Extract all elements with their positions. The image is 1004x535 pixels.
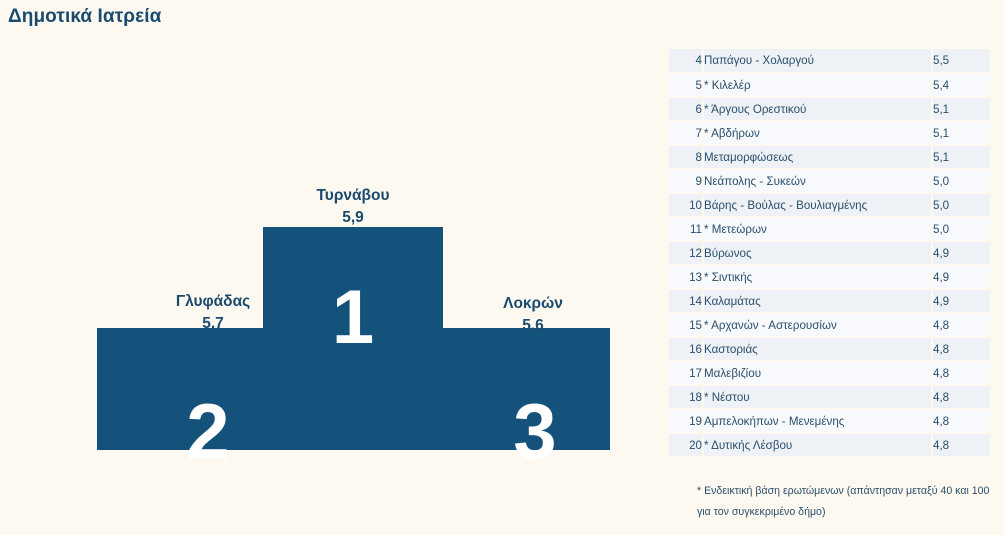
table-cell-score: 5,0 xyxy=(932,193,990,217)
table-cell-rank: 7 xyxy=(669,121,703,145)
table-cell-rank: 6 xyxy=(669,97,703,121)
table-row: 4Παπάγου - Χολαργού5,5 xyxy=(669,49,990,73)
table-cell-score: 5,1 xyxy=(932,121,990,145)
podium-rank-numeral-2: 2 xyxy=(148,392,268,470)
table-cell-score: 5,4 xyxy=(932,73,990,97)
table-cell-score: 4,9 xyxy=(932,241,990,265)
table-cell-score: 4,8 xyxy=(932,409,990,433)
table-cell-rank: 11 xyxy=(669,217,703,241)
table-cell-rank: 20 xyxy=(669,433,703,457)
table-cell-municipality: * Άργους Ορεστικού xyxy=(703,97,932,121)
podium-name-3: Λοκρών xyxy=(438,293,628,315)
table-cell-municipality: Μεταμορφώσεως xyxy=(703,145,932,169)
table-row: 12Βύρωνος4,9 xyxy=(669,241,990,265)
table-cell-score: 4,8 xyxy=(932,313,990,337)
table-row: 8Μεταμορφώσεως5,1 xyxy=(669,145,990,169)
table-cell-municipality: Αμπελοκήπων - Μενεμένης xyxy=(703,409,932,433)
table-cell-rank: 5 xyxy=(669,73,703,97)
table-cell-rank: 16 xyxy=(669,337,703,361)
podium-score-1: 5,9 xyxy=(253,207,453,229)
table-cell-rank: 19 xyxy=(669,409,703,433)
table-cell-municipality: Μαλεβιζίου xyxy=(703,361,932,385)
table-row: 11* Μετεώρων5,0 xyxy=(669,217,990,241)
ranking-table: 4Παπάγου - Χολαργού5,55* Κιλελέρ5,46* Άρ… xyxy=(669,49,990,458)
table-cell-municipality: * Αβδήρων xyxy=(703,121,932,145)
table-cell-rank: 18 xyxy=(669,385,703,409)
podium-rank-numeral-1: 1 xyxy=(293,280,413,356)
table-cell-municipality: Παπάγου - Χολαργού xyxy=(703,49,932,73)
table-cell-score: 5,1 xyxy=(932,97,990,121)
podium-name-1: Τυρνάβου xyxy=(253,185,453,207)
page-title: Δημοτικά Ιατρεία xyxy=(8,6,161,28)
table-cell-municipality: * Μετεώρων xyxy=(703,217,932,241)
table-row: 14Καλαμάτας4,9 xyxy=(669,289,990,313)
table-row: 6* Άργους Ορεστικού5,1 xyxy=(669,97,990,121)
ranking-table-body: 4Παπάγου - Χολαργού5,55* Κιλελέρ5,46* Άρ… xyxy=(669,49,990,457)
table-row: 17Μαλεβιζίου4,8 xyxy=(669,361,990,385)
table-cell-score: 4,8 xyxy=(932,337,990,361)
table-cell-score: 4,9 xyxy=(932,289,990,313)
table-footnote: * Ενδεικτική βάση ερωτώμενων (απάντησαν … xyxy=(697,481,995,522)
table-cell-score: 5,5 xyxy=(932,49,990,73)
table-cell-municipality: Βάρης - Βούλας - Βουλιαγμένης xyxy=(703,193,932,217)
table-cell-municipality: * Αρχανών - Αστερουσίων xyxy=(703,313,932,337)
table-cell-score: 4,8 xyxy=(932,433,990,457)
table-cell-rank: 17 xyxy=(669,361,703,385)
table-row: 13* Σιντικής4,9 xyxy=(669,265,990,289)
table-row: 10Βάρης - Βούλας - Βουλιαγμένης5,0 xyxy=(669,193,990,217)
table-cell-rank: 4 xyxy=(669,49,703,73)
table-row: 7* Αβδήρων5,1 xyxy=(669,121,990,145)
table-cell-rank: 12 xyxy=(669,241,703,265)
table-cell-rank: 10 xyxy=(669,193,703,217)
table-cell-score: 4,8 xyxy=(932,361,990,385)
podium-score-3: 5,6 xyxy=(438,315,628,337)
table-cell-rank: 9 xyxy=(669,169,703,193)
table-row: 19Αμπελοκήπων - Μενεμένης4,8 xyxy=(669,409,990,433)
table-cell-rank: 8 xyxy=(669,145,703,169)
podium-rank-numeral-3: 3 xyxy=(475,392,595,470)
table-cell-municipality: * Κιλελέρ xyxy=(703,73,932,97)
table-cell-score: 4,9 xyxy=(932,265,990,289)
table-row: 20* Δυτικής Λέσβου4,8 xyxy=(669,433,990,457)
table-cell-municipality: Καστοριάς xyxy=(703,337,932,361)
table-row: 5* Κιλελέρ5,4 xyxy=(669,73,990,97)
podium-label-first-place: Τυρνάβου 5,9 xyxy=(253,185,453,229)
table-cell-rank: 15 xyxy=(669,313,703,337)
table-cell-municipality: Βύρωνος xyxy=(703,241,932,265)
table-row: 15* Αρχανών - Αστερουσίων4,8 xyxy=(669,313,990,337)
table-cell-rank: 13 xyxy=(669,265,703,289)
podium-score-2: 5,7 xyxy=(118,313,308,335)
table-cell-score: 4,8 xyxy=(932,385,990,409)
table-row: 18* Νέστου4,8 xyxy=(669,385,990,409)
table-cell-municipality: * Νέστου xyxy=(703,385,932,409)
podium-label-second-place: Γλυφάδας 5,7 xyxy=(118,291,308,335)
table-row: 16Καστοριάς4,8 xyxy=(669,337,990,361)
table-cell-score: 5,0 xyxy=(932,169,990,193)
table-cell-municipality: Καλαμάτας xyxy=(703,289,932,313)
table-row: 9Νεάπολης - Συκεών5,0 xyxy=(669,169,990,193)
table-cell-rank: 14 xyxy=(669,289,703,313)
podium-chart: 1 2 3 Τυρνάβου 5,9 Γλυφάδας 5,7 Λοκρών 5… xyxy=(0,40,660,510)
table-cell-score: 5,1 xyxy=(932,145,990,169)
table-cell-municipality: Νεάπολης - Συκεών xyxy=(703,169,932,193)
table-cell-municipality: * Δυτικής Λέσβου xyxy=(703,433,932,457)
table-cell-municipality: * Σιντικής xyxy=(703,265,932,289)
table-cell-score: 5,0 xyxy=(932,217,990,241)
podium-name-2: Γλυφάδας xyxy=(118,291,308,313)
podium-label-third-place: Λοκρών 5,6 xyxy=(438,293,628,337)
